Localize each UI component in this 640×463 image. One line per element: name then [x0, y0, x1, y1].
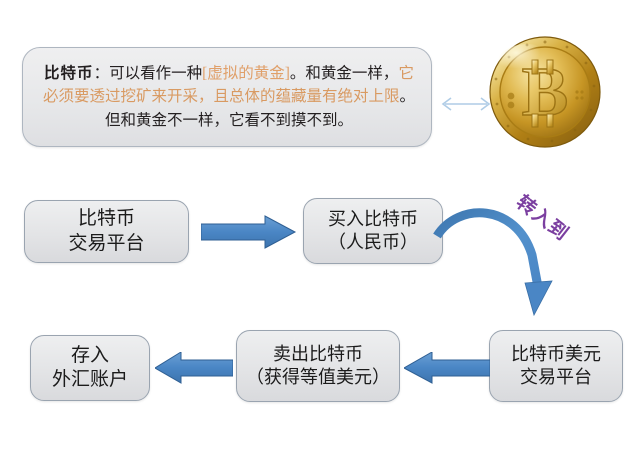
node-line: 交易平台 [68, 232, 144, 256]
bitcoin-coin: B [487, 34, 603, 150]
node-bitcoin-exchange[interactable]: 比特币 交易平台 [24, 200, 189, 263]
arrow-usd-exchange-to-sell [404, 352, 490, 384]
node-deposit-forex-account[interactable]: 存入 外汇账户 [30, 335, 150, 401]
diagram-canvas: 比特币：可以看作一种[虚拟的黄金]。和黄金一样，它必须要透过挖矿来开采，且总体的… [0, 0, 640, 463]
node-line: 比特币美元 [511, 343, 601, 366]
node-buy-bitcoin-rmb[interactable]: 买入比特币 （人民币） [303, 198, 443, 264]
node-line: 比特币 [78, 207, 135, 231]
description-highlight: [虚拟的黄金] [202, 65, 290, 82]
description-segment-1: 可以看作一种 [109, 65, 202, 82]
bitcoin-description-text: 比特币：可以看作一种[虚拟的黄金]。和黄金一样，它必须要透过挖矿来开采，且总体的… [39, 62, 419, 133]
description-line-3-warm: 限 [384, 88, 400, 105]
arrow-exchange-to-buy [201, 215, 297, 249]
node-bitcoin-usd-exchange[interactable]: 比特币美元 交易平台 [489, 330, 623, 402]
node-line: 卖出比特币 [273, 343, 363, 366]
description-colon: ： [94, 65, 110, 82]
arrow-sell-to-deposit [155, 352, 233, 384]
bitcoin-coin-icon: B [487, 34, 603, 150]
bitcoin-description-box: 比特币：可以看作一种[虚拟的黄金]。和黄金一样，它必须要透过挖矿来开采，且总体的… [22, 47, 432, 147]
node-line: 买入比特币 [328, 208, 418, 231]
node-line: （获得等值美元） [246, 366, 390, 389]
node-line: 交易平台 [520, 366, 592, 389]
node-line: （人民币） [328, 231, 418, 254]
description-segment-3: 。和黄金一样， [290, 65, 399, 82]
node-line: 外汇账户 [52, 368, 128, 392]
node-sell-bitcoin-usd[interactable]: 卖出比特币 （获得等值美元） [236, 330, 400, 402]
node-line: 存入 [71, 344, 109, 368]
description-term: 比特币 [44, 65, 94, 82]
